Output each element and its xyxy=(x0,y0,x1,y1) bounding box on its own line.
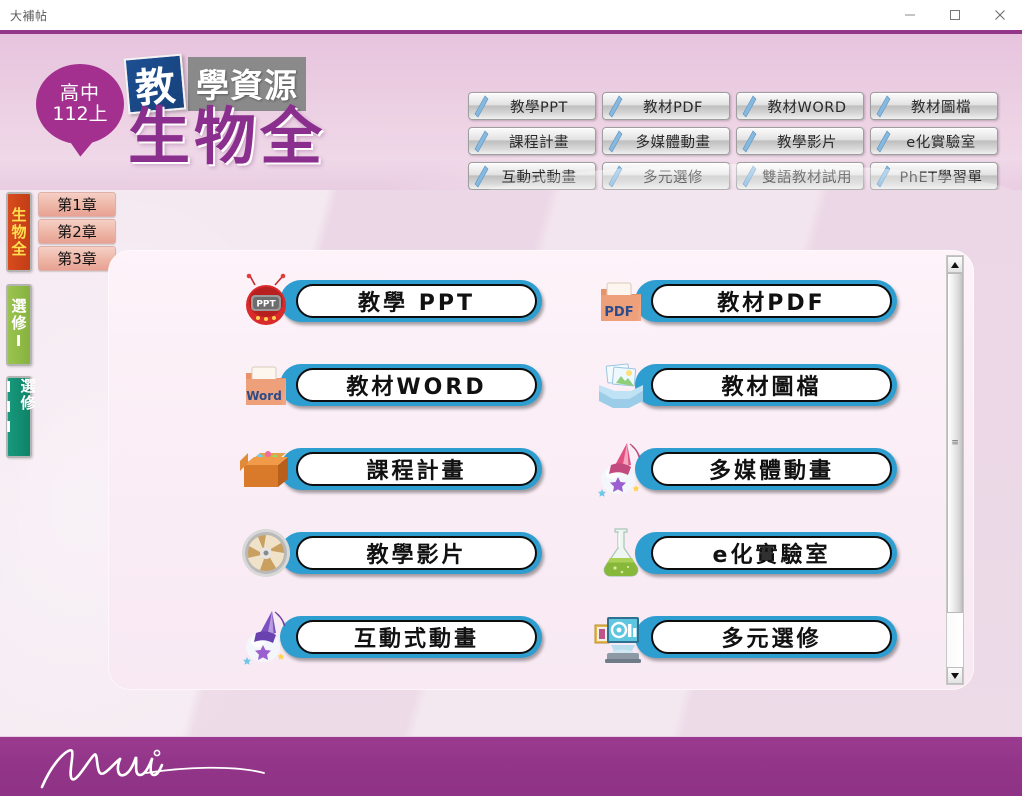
resource-label: 多媒體動畫 xyxy=(651,452,892,486)
resource-label: e化實驗室 xyxy=(651,536,892,570)
resource-label: 教材PDF xyxy=(651,284,892,318)
monitor-chart-icon xyxy=(593,609,649,665)
image-box-icon xyxy=(593,357,649,413)
pencil-icon xyxy=(473,95,489,119)
resource-label: 互動式動畫 xyxy=(296,620,537,654)
resource-pill[interactable]: 多媒體動畫 xyxy=(635,448,897,490)
chapter-button-3[interactable]: 第3章 xyxy=(38,246,116,271)
header-nav-button-5[interactable]: 多媒體動畫 xyxy=(602,127,730,155)
magic-hat-pink-icon xyxy=(593,441,649,497)
pencil-icon xyxy=(875,165,891,189)
term-label: 112上 xyxy=(52,104,107,125)
header-nav-button-0[interactable]: 教學PPT xyxy=(468,92,596,120)
resource-label: 教材圖檔 xyxy=(651,368,892,402)
header-nav-button-4[interactable]: 課程計畫 xyxy=(468,127,596,155)
pencil-icon xyxy=(607,165,623,189)
header-nav: 教學PPT 教材PDF 教材WORD 教材圖檔 課程計畫 多媒體動畫 教學影片 xyxy=(468,92,1002,190)
resource-item-teaching-ppt[interactable]: PPT 教學 PPT xyxy=(238,268,583,334)
resource-item-interactive-animation[interactable]: 互動式動畫 xyxy=(238,604,583,670)
resource-label: 教學影片 xyxy=(296,536,537,570)
resource-pill[interactable]: 互動式動畫 xyxy=(280,616,542,658)
window-controls xyxy=(887,0,1022,30)
pencil-icon xyxy=(741,130,757,154)
resource-pill[interactable]: 教學影片 xyxy=(280,532,542,574)
sidebar-item-biology[interactable]: 生物全 xyxy=(6,192,32,272)
pencil-icon xyxy=(607,95,623,119)
header-nav-button-3[interactable]: 教材圖檔 xyxy=(870,92,998,120)
resource-pill[interactable]: 教材PDF xyxy=(635,280,897,322)
grade-label: 高中 xyxy=(60,83,100,104)
header-nav-button-11[interactable]: PhET學習單 xyxy=(870,162,998,190)
resource-label: 課程計畫 xyxy=(296,452,537,486)
resource-pill[interactable]: e化實驗室 xyxy=(635,532,897,574)
app-footer: 建議使用office 2007 以上版本 服務中心 回首頁 xyxy=(0,736,1022,796)
resource-item-material-images[interactable]: 教材圖檔 xyxy=(593,352,938,418)
header-nav-button-8[interactable]: 互動式動畫 xyxy=(468,162,596,190)
svg-text:Word: Word xyxy=(246,389,282,403)
maximize-button[interactable] xyxy=(932,0,977,30)
content-scrollbar[interactable]: ≡ xyxy=(946,255,964,685)
scrollbar-thumb[interactable]: ≡ xyxy=(947,273,963,613)
pencil-icon xyxy=(607,130,623,154)
resource-pill[interactable]: 教學 PPT xyxy=(280,280,542,322)
window-titlebar: 大補帖 xyxy=(0,0,1022,30)
content-card: PPT 教學 PPT PDF xyxy=(108,250,974,690)
brand-logo: 高中 112上 教 學資源 生物全 xyxy=(18,44,458,190)
folder-pdf-icon: PDF xyxy=(593,273,649,329)
sidebar-item-elective-3[interactable]: 選修III xyxy=(6,376,32,458)
resource-item-material-word[interactable]: Word 教材WORD xyxy=(238,352,583,418)
folder-word-icon: Word xyxy=(238,357,294,413)
pencil-icon xyxy=(741,95,757,119)
magic-hat-purple-icon xyxy=(238,609,294,665)
scrollbar-track[interactable]: ≡ xyxy=(947,273,963,667)
subject-title: 生物全 xyxy=(128,106,326,168)
header-nav-button-2[interactable]: 教材WORD xyxy=(736,92,864,120)
main-body: 生物全 選修I 選修III 第1章 第2章 第3章 PPT xyxy=(0,190,1022,736)
pencil-icon xyxy=(741,165,757,189)
publisher-logo xyxy=(24,741,324,796)
pencil-icon xyxy=(473,130,489,154)
window-title: 大補帖 xyxy=(0,7,48,24)
resource-item-e-lab[interactable]: e化實驗室 xyxy=(593,520,938,586)
resource-pill[interactable]: 教材WORD xyxy=(280,364,542,406)
svg-text:PDF: PDF xyxy=(604,305,633,320)
chapter-button-1[interactable]: 第1章 xyxy=(38,192,116,217)
resource-pill[interactable]: 教材圖檔 xyxy=(635,364,897,406)
minimize-button[interactable] xyxy=(887,0,932,30)
sidebar-rail: 生物全 選修I 選修III xyxy=(6,190,36,458)
chapter-button-2[interactable]: 第2章 xyxy=(38,219,116,244)
pencil-icon xyxy=(875,130,891,154)
close-button[interactable] xyxy=(977,0,1022,30)
resource-label: 教學 PPT xyxy=(296,284,537,318)
resource-item-diverse-electives[interactable]: 多元選修 xyxy=(593,604,938,670)
sidebar-item-elective-1[interactable]: 選修I xyxy=(6,284,32,366)
pencil-icon xyxy=(473,165,489,189)
resource-item-multimedia-animation[interactable]: 多媒體動畫 xyxy=(593,436,938,502)
header-nav-button-9[interactable]: 多元選修 xyxy=(602,162,730,190)
resource-grid: PPT 教學 PPT PDF xyxy=(238,268,938,670)
header-nav-button-1[interactable]: 教材PDF xyxy=(602,92,730,120)
flask-icon xyxy=(593,525,649,581)
app-header: 高中 112上 教 學資源 生物全 教學PPT 教材PDF 教材WORD 教材圖… xyxy=(0,30,1022,190)
scrollbar-grip: ≡ xyxy=(951,442,959,444)
pencil-icon xyxy=(875,95,891,119)
resource-label: 多元選修 xyxy=(651,620,892,654)
resource-item-teaching-video[interactable]: 教學影片 xyxy=(238,520,583,586)
header-nav-button-10[interactable]: 雙語教材試用 xyxy=(736,162,864,190)
chapter-list: 第1章 第2章 第3章 xyxy=(38,192,116,271)
grade-bubble: 高中 112上 xyxy=(36,64,124,144)
resource-pill[interactable]: 多元選修 xyxy=(635,616,897,658)
resource-item-course-plan[interactable]: 課程計畫 xyxy=(238,436,583,502)
scroll-up-arrow[interactable] xyxy=(947,256,963,273)
tv-ppt-icon: PPT xyxy=(238,273,294,329)
header-nav-button-7[interactable]: e化實驗室 xyxy=(870,127,998,155)
treasure-box-icon xyxy=(238,441,294,497)
header-nav-button-6[interactable]: 教學影片 xyxy=(736,127,864,155)
scroll-down-arrow[interactable] xyxy=(947,667,963,684)
svg-text:PPT: PPT xyxy=(256,300,276,310)
resource-label: 教材WORD xyxy=(296,368,537,402)
resource-pill[interactable]: 課程計畫 xyxy=(280,448,542,490)
film-reel-icon xyxy=(238,525,294,581)
resource-item-material-pdf[interactable]: PDF 教材PDF xyxy=(593,268,938,334)
